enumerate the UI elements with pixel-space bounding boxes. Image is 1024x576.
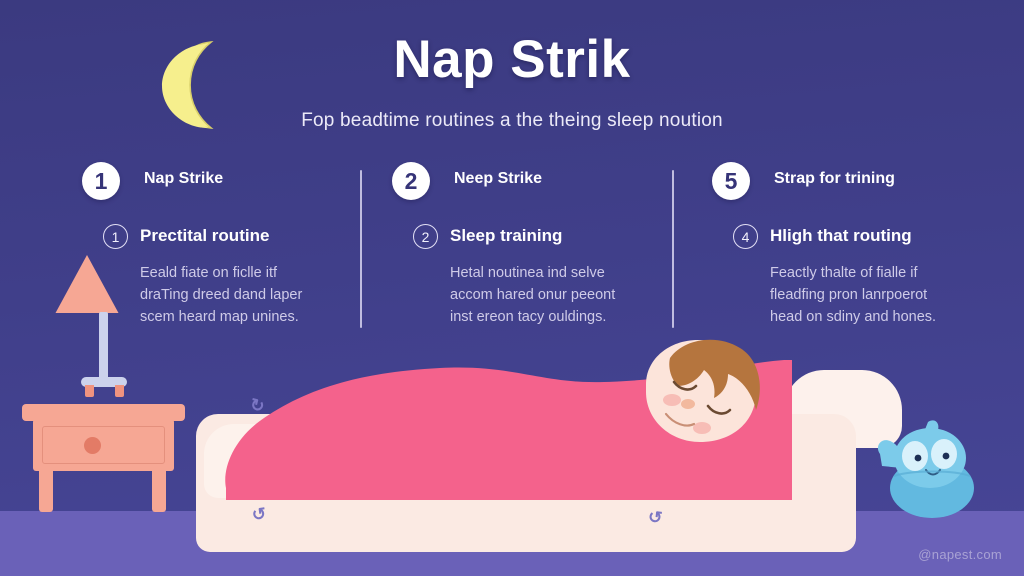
step-body-line: Feactly thalte of fialle if: [770, 262, 960, 284]
step-header-2: 2 Neep Strike: [392, 162, 662, 208]
infographic-canvas: Nap Strik Fop beadtime routines a the th…: [0, 0, 1024, 576]
watermark: @napest.com: [918, 547, 1002, 562]
step-body-line: scem heard map unines.: [140, 306, 330, 328]
nightstand-drawer: [42, 426, 165, 464]
step-column-3[interactable]: 5 Strap for trining 4 Hligh that routing…: [712, 162, 982, 328]
step-header-3: 5 Strap for trining: [712, 162, 982, 208]
step-body-line: head on sdiny and hones.: [770, 306, 960, 328]
nightstand: [22, 404, 185, 524]
steps-row: 1 Nap Strike 1 Prectital routine Eeald f…: [0, 162, 1024, 337]
column-divider-2: [672, 170, 674, 328]
step-body-1: Eeald fiate on ficlle itf draTing dreed …: [140, 262, 330, 328]
step-body-line: Eeald fiate on ficlle itf: [140, 262, 330, 284]
nightstand-leg-left: [39, 470, 53, 512]
step-body-line: Hetal noutinea ind selve: [450, 262, 640, 284]
motion-tick-icon: ↺: [251, 504, 267, 526]
page-subtitle: Fop beadtime routines a the theing sleep…: [0, 110, 1024, 132]
step-subheader-3: 4 Hligh that routing: [712, 224, 982, 252]
page-title: Nap Strik: [0, 32, 1024, 88]
step-body-line: inst ereon tacy ouldings.: [450, 306, 640, 328]
step-column-2[interactable]: 2 Neep Strike 2 Sleep training Hetal nou…: [392, 162, 662, 328]
step-body-line: fleadfing pron lanrpoerot: [770, 284, 960, 306]
step-badge-1: 1: [82, 162, 120, 200]
lamp-foot-left: [85, 385, 94, 397]
step-sub-label-2: Sleep training: [450, 226, 562, 246]
step-head-label-3: Strap for trining: [774, 170, 895, 188]
step-header-1: 1 Nap Strike: [82, 162, 352, 208]
nightstand-leg-right: [152, 470, 166, 512]
step-subheader-1: 1 Prectital routine: [82, 224, 352, 252]
step-badge-2: 2: [392, 162, 430, 200]
step-head-label-2: Neep Strike: [454, 170, 542, 188]
lamp-foot-right: [115, 385, 124, 397]
step-sub-badge-2: 2: [413, 224, 438, 249]
step-body-line: draTing dreed dand laper: [140, 284, 330, 306]
motion-tick-icon: ↺: [647, 507, 662, 528]
step-body-2: Hetal noutinea ind selve accom hared onu…: [450, 262, 640, 328]
step-badge-3: 5: [712, 162, 750, 200]
step-subheader-2: 2 Sleep training: [392, 224, 662, 252]
drawer-knob-icon: [84, 437, 101, 454]
step-head-label-1: Nap Strike: [144, 170, 223, 188]
lamp-pole: [99, 312, 108, 380]
column-divider-1: [360, 170, 362, 328]
step-sub-badge-1: 1: [103, 224, 128, 249]
lamp-shade: [56, 255, 119, 313]
step-body-3: Feactly thalte of fialle if fleadfing pr…: [770, 262, 960, 328]
table-lamp: [55, 255, 153, 407]
sleeping-child: [636, 332, 766, 458]
step-sub-badge-3: 4: [733, 224, 758, 249]
step-sub-label-3: Hligh that routing: [770, 226, 912, 246]
step-body-line: accom hared onur peeont: [450, 284, 640, 306]
nightstand-body: [33, 419, 174, 471]
step-sub-label-1: Prectital routine: [140, 226, 269, 246]
blue-plush-toy: [872, 418, 980, 518]
